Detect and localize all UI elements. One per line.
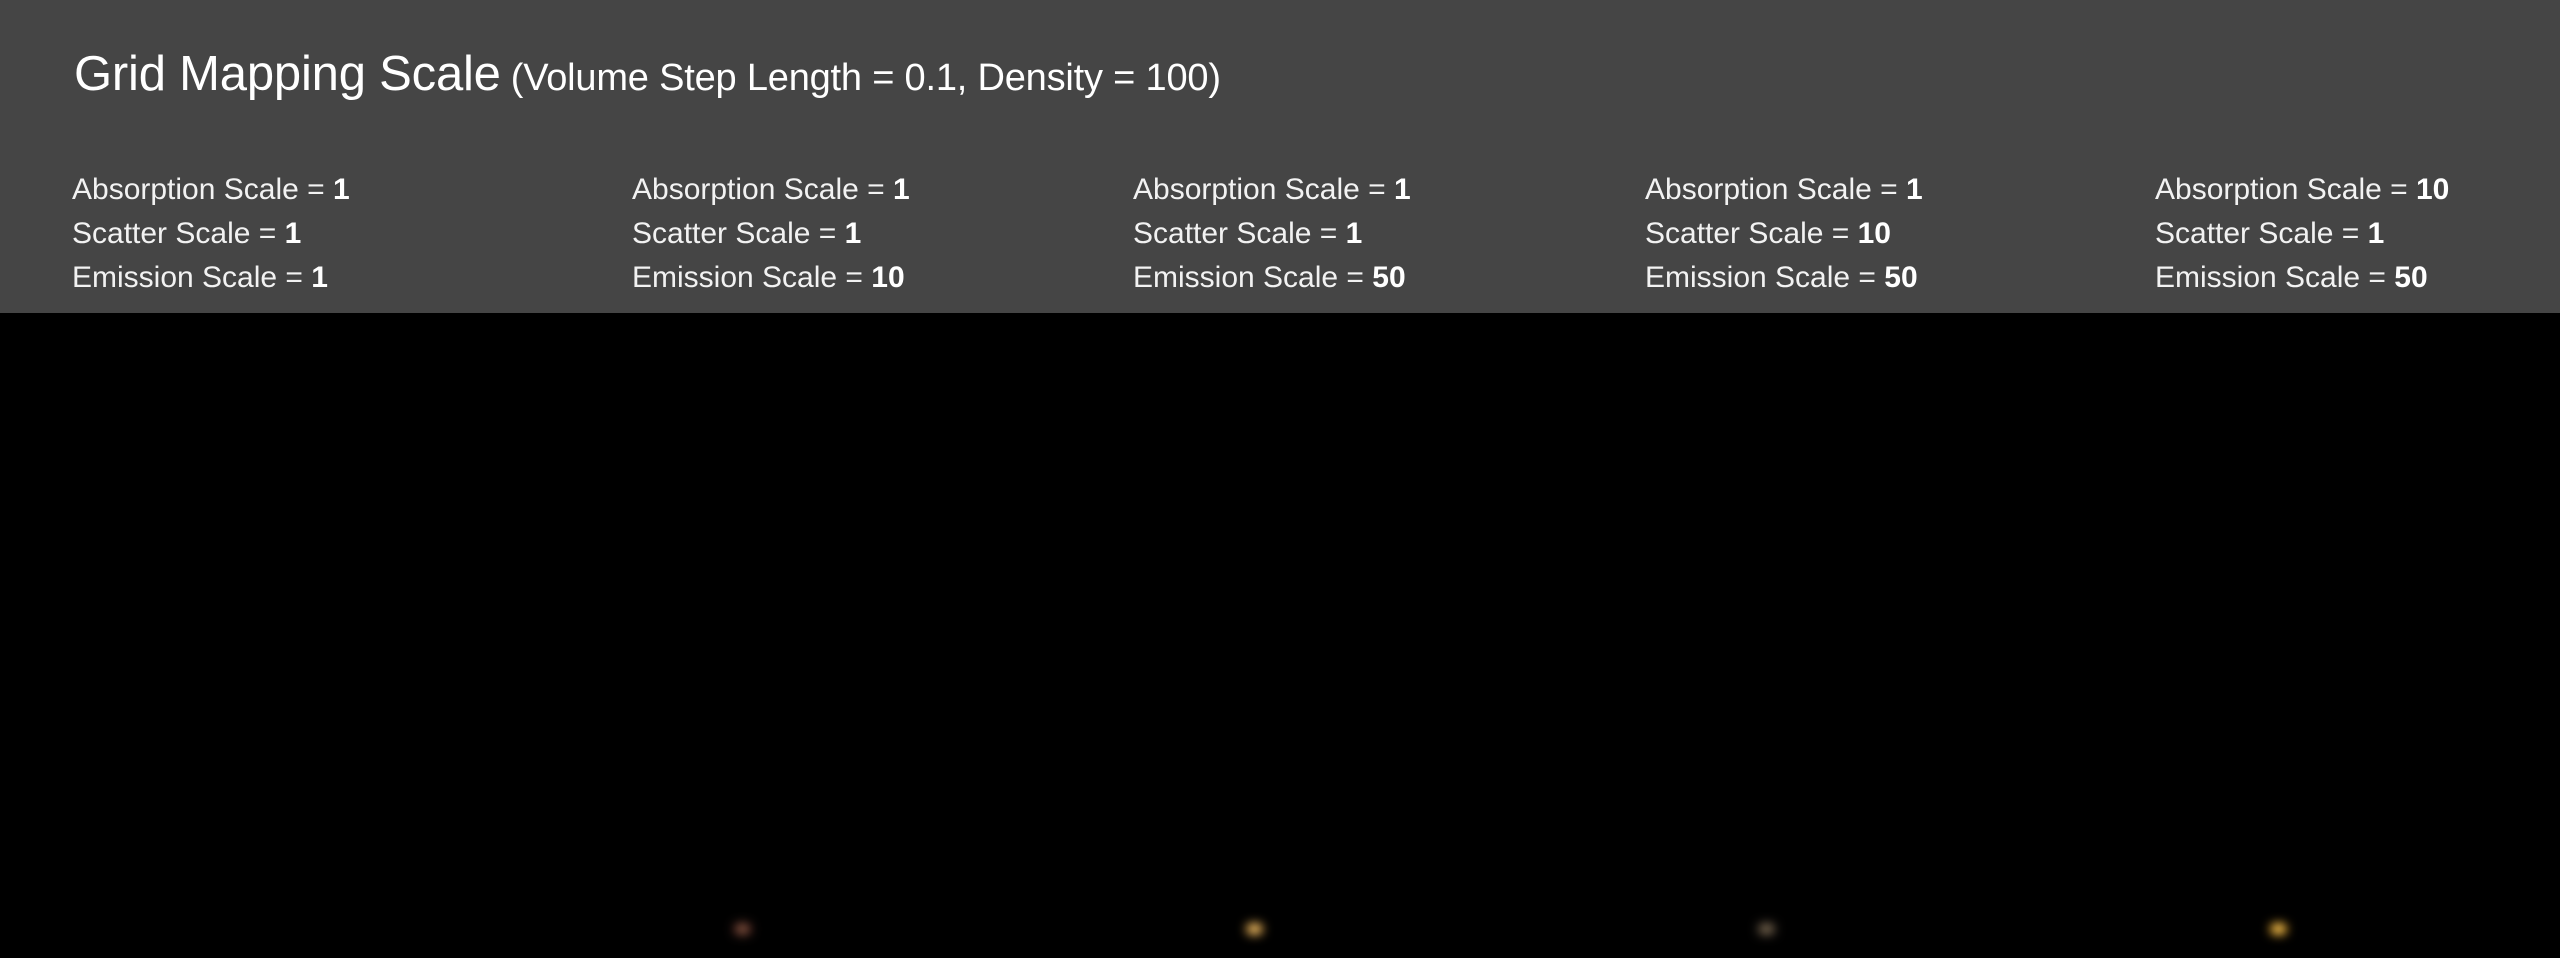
scatter-line: Scatter Scale = 1 (632, 212, 910, 256)
title-subtitle: (Volume Step Length = 0.1, Density = 100… (511, 57, 1221, 99)
plume-puff (2109, 486, 2232, 566)
plume-puff (1311, 753, 1383, 803)
caption-block-5: Absorption Scale = 10 Scatter Scale = 1 … (2155, 168, 2449, 300)
absorption-label: Absorption Scale = (1645, 173, 1906, 206)
scatter-line: Scatter Scale = 1 (2155, 212, 2449, 256)
plume-puff (2299, 719, 2360, 759)
emission-label: Emission Scale = (1645, 261, 1884, 294)
plume-puff (2409, 495, 2465, 531)
render-cell-4 (1536, 313, 2048, 958)
absorption-value: 1 (1394, 173, 1411, 206)
plume-puff (1590, 562, 1657, 606)
figure-root: Grid Mapping Scale(Volume Step Length = … (0, 0, 2560, 958)
plume-puff (1917, 618, 1973, 654)
render-cell-3 (1024, 313, 1536, 958)
emission-label: Emission Scale = (1133, 261, 1372, 294)
smoke-plume-render (2048, 313, 2560, 958)
smoke-plume-render (1024, 313, 1536, 958)
plume-puff (282, 581, 374, 639)
emission-label: Emission Scale = (632, 261, 871, 294)
plume-puff (54, 562, 121, 606)
ember-glow (1243, 923, 1266, 936)
plume-puff (1818, 581, 1910, 639)
absorption-value: 1 (1906, 173, 1923, 206)
scatter-label: Scatter Scale = (72, 217, 285, 250)
plume-puff (1713, 745, 1769, 785)
plume-puff (1290, 656, 1372, 706)
emission-value: 50 (2394, 261, 2427, 294)
plume-puff (1897, 495, 1953, 531)
plume-puff (1270, 893, 1352, 933)
ember-glow (1755, 923, 1778, 936)
scatter-value: 1 (2368, 217, 2385, 250)
scatter-line: Scatter Scale = 1 (72, 212, 350, 256)
plume-puff (266, 656, 348, 706)
emission-value: 10 (871, 261, 904, 294)
scatter-value: 1 (845, 217, 862, 250)
plume-puff (2102, 562, 2169, 606)
plume-puff (1802, 656, 1884, 706)
plume-puff (2429, 618, 2485, 654)
plume-puff (1306, 581, 1398, 639)
plume-puff (799, 753, 871, 803)
plume-puff (627, 645, 704, 691)
render-cell-2 (512, 313, 1024, 958)
emission-line: Emission Scale = 1 (72, 256, 350, 300)
plume-puff (689, 745, 745, 785)
emission-line: Emission Scale = 50 (1645, 256, 1923, 300)
plume-puff (1787, 719, 1848, 759)
plume-puff (763, 719, 824, 759)
scatter-label: Scatter Scale = (2155, 217, 2368, 250)
plume-puff (1275, 719, 1336, 759)
plume-puff (287, 753, 359, 803)
smoke-plume-render (1536, 313, 2048, 958)
smoke-plume-render (0, 313, 512, 958)
plume-puff (1754, 436, 1882, 512)
absorption-label: Absorption Scale = (1133, 173, 1394, 206)
emission-value: 50 (1372, 261, 1405, 294)
smoke-plume-render (512, 313, 1024, 958)
scatter-value: 1 (285, 217, 302, 250)
plume-puff (893, 618, 949, 654)
plume-puff (778, 656, 860, 706)
caption-block-4: Absorption Scale = 1 Scatter Scale = 10 … (1645, 168, 1923, 300)
absorption-line: Absorption Scale = 1 (632, 168, 910, 212)
caption-block-1: Absorption Scale = 1 Scatter Scale = 1 E… (72, 168, 350, 300)
emission-value: 50 (1884, 261, 1917, 294)
header-band: Grid Mapping Scale(Volume Step Length = … (0, 0, 2560, 313)
plume-puff (2330, 581, 2422, 639)
scatter-value: 10 (1858, 217, 1891, 250)
absorption-value: 10 (2416, 173, 2449, 206)
scatter-label: Scatter Scale = (632, 217, 845, 250)
absorption-line: Absorption Scale = 10 (2155, 168, 2449, 212)
plume-puff (2163, 645, 2240, 691)
emission-label: Emission Scale = (2155, 261, 2394, 294)
plume-puff (177, 745, 233, 785)
plume-puff (115, 645, 192, 691)
caption-block-3: Absorption Scale = 1 Scatter Scale = 1 E… (1133, 168, 1411, 300)
absorption-label: Absorption Scale = (632, 173, 893, 206)
emission-value: 1 (311, 261, 328, 294)
scatter-line: Scatter Scale = 1 (1133, 212, 1411, 256)
plume-puff (566, 562, 633, 606)
caption-block-2: Absorption Scale = 1 Scatter Scale = 1 E… (632, 168, 910, 300)
render-cell-5 (2048, 313, 2560, 958)
plume-puff (1782, 893, 1864, 933)
plume-puff (1651, 645, 1728, 691)
plume-puff (381, 618, 437, 654)
plume-puff (361, 495, 417, 531)
plume-puff (794, 581, 886, 639)
absorption-line: Absorption Scale = 1 (1645, 168, 1923, 212)
plume-puff (730, 436, 858, 512)
plume-puff (246, 893, 328, 933)
plume-puff (2335, 753, 2407, 803)
emission-label: Emission Scale = (72, 261, 311, 294)
scatter-line: Scatter Scale = 10 (1645, 212, 1923, 256)
plume-puff (1385, 495, 1441, 531)
absorption-line: Absorption Scale = 1 (72, 168, 350, 212)
absorption-label: Absorption Scale = (2155, 173, 2416, 206)
absorption-line: Absorption Scale = 1 (1133, 168, 1411, 212)
emission-line: Emission Scale = 50 (2155, 256, 2449, 300)
scatter-label: Scatter Scale = (1133, 217, 1346, 250)
absorption-label: Absorption Scale = (72, 173, 333, 206)
plume-puff (1078, 562, 1145, 606)
plume-puff (1242, 436, 1370, 512)
caption-row: Absorption Scale = 1 Scatter Scale = 1 E… (0, 168, 2560, 293)
plume-puff (1405, 618, 1461, 654)
render-strip (0, 313, 2560, 958)
plume-puff (1823, 753, 1895, 803)
plume-puff (1201, 745, 1257, 785)
absorption-value: 1 (333, 173, 350, 206)
plume-puff (218, 436, 346, 512)
title-main: Grid Mapping Scale (74, 47, 501, 101)
plume-puff (873, 495, 929, 531)
ember-glow (2267, 923, 2290, 936)
plume-puff (2294, 893, 2376, 933)
plume-puff (2255, 810, 2352, 874)
absorption-value: 1 (893, 173, 910, 206)
ember-glow (731, 923, 754, 936)
page-title: Grid Mapping Scale(Volume Step Length = … (74, 46, 1221, 102)
emission-line: Emission Scale = 10 (632, 256, 910, 300)
emission-line: Emission Scale = 50 (1133, 256, 1411, 300)
plume-puff (2314, 656, 2396, 706)
scatter-label: Scatter Scale = (1645, 217, 1858, 250)
plume-puff (758, 893, 840, 933)
plume-puff (1139, 645, 1216, 691)
render-cell-1 (0, 313, 512, 958)
scatter-value: 1 (1346, 217, 1363, 250)
